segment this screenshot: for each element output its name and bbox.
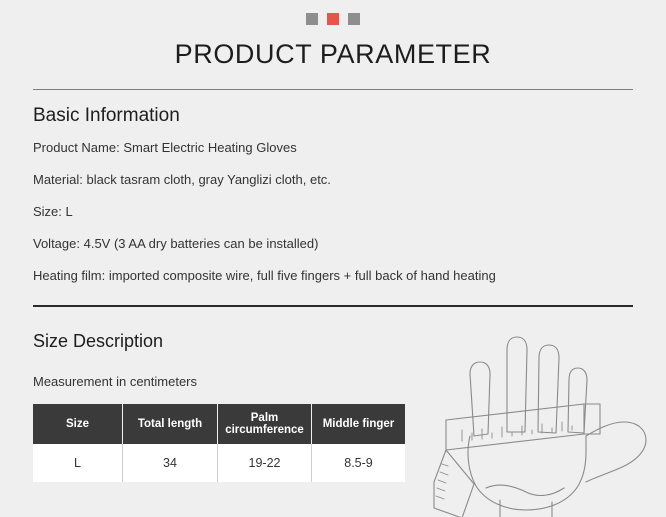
tape-band-main [446, 404, 584, 450]
section-size-description: Size Description Measurement in centimet… [33, 330, 393, 482]
ring-finger-outline [538, 345, 559, 433]
thumb-outline [586, 422, 646, 482]
palm-outline [468, 436, 586, 510]
info-line-heating-film: Heating film: imported composite wire, f… [33, 268, 633, 284]
table-row: L 34 19-22 8.5-9 [33, 444, 405, 482]
table-header-palm-circumference: Palm circumference [218, 404, 312, 444]
product-parameter-page: PRODUCT PARAMETER Basic Information Prod… [0, 0, 666, 517]
table-header-size: Size [33, 404, 123, 444]
cell-middle-finger: 8.5-9 [312, 444, 406, 482]
info-line-voltage: Voltage: 4.5V (3 AA dry batteries can be… [33, 236, 633, 252]
divider-top [33, 89, 633, 90]
info-line-product-name: Product Name: Smart Electric Heating Glo… [33, 140, 633, 156]
section-basic-information: Basic Information Product Name: Smart El… [33, 104, 633, 284]
cell-palm-circumference: 19-22 [218, 444, 312, 482]
dot-gray-left-icon [306, 13, 318, 25]
palm-crease-line [486, 485, 564, 495]
tape-tail-tick-marks [436, 464, 448, 499]
header-dot-group [0, 13, 666, 25]
dot-red-center-icon [327, 13, 339, 25]
cell-size: L [33, 444, 123, 482]
info-line-size: Size: L [33, 204, 633, 220]
page-title: PRODUCT PARAMETER [0, 38, 666, 70]
measurement-unit-note: Measurement in centimeters [33, 374, 393, 390]
table-header-row: Size Total length Palm circumference Mid… [33, 404, 405, 444]
basic-information-heading: Basic Information [33, 104, 633, 128]
table-header-middle-finger: Middle finger [312, 404, 406, 444]
divider-middle [33, 305, 633, 307]
size-table: Size Total length Palm circumference Mid… [33, 404, 405, 482]
middle-finger-outline [507, 337, 527, 432]
table-header-total-length: Total length [123, 404, 218, 444]
size-description-heading: Size Description [33, 330, 393, 352]
index-finger-outline [470, 362, 490, 436]
info-line-material: Material: black tasram cloth, gray Yangl… [33, 172, 633, 188]
hand-with-measuring-tape-illustration [428, 332, 666, 517]
cell-total-length: 34 [123, 444, 218, 482]
dot-gray-right-icon [348, 13, 360, 25]
